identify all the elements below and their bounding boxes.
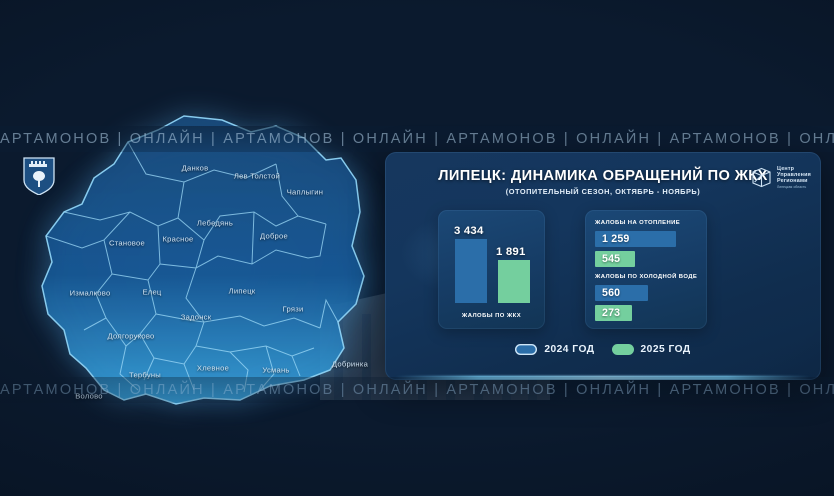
vignette-overlay <box>0 0 834 496</box>
infographic-stage: Данков Лев Толстой Чаплыгин Лебедянь Доб… <box>0 0 834 496</box>
